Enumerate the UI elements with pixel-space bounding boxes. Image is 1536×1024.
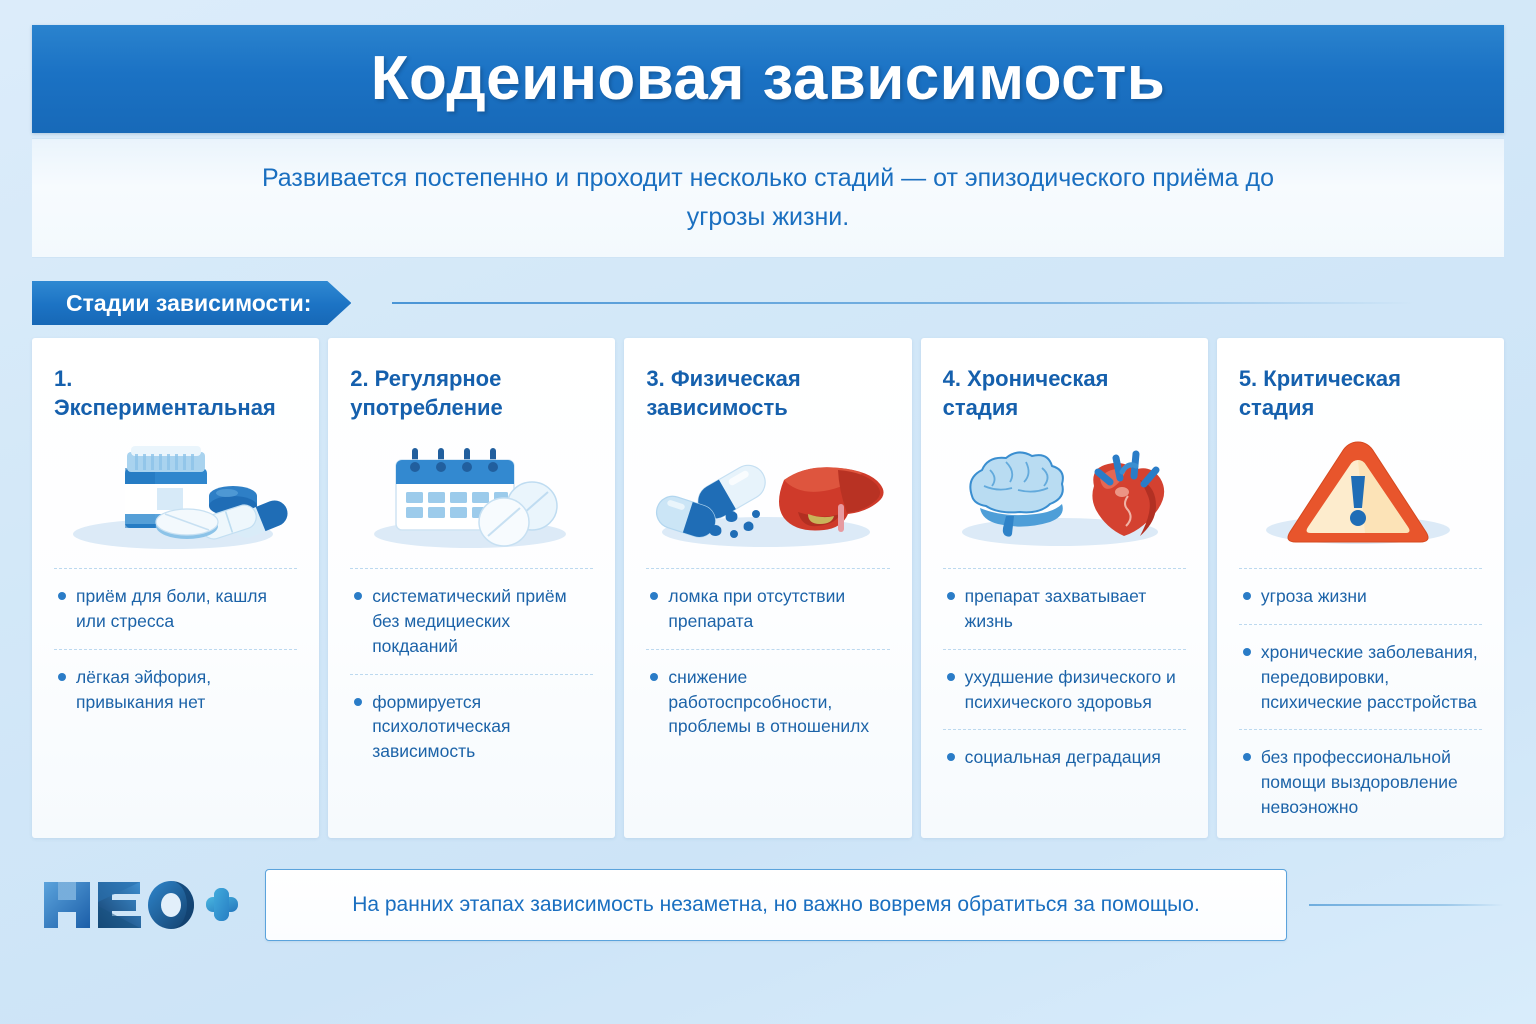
list-item: лёгкая эйфория, привыкания нет <box>54 650 297 730</box>
stages-card-row: 1. Экспериментальная <box>32 338 1504 838</box>
bullet-dot-icon <box>1243 592 1251 600</box>
infographic-poster: Кодеиновая зависимость Развивается посте… <box>0 0 1536 1024</box>
bullet-dot-icon <box>650 673 658 681</box>
neo-plus-logo <box>32 874 247 936</box>
header-band: Кодеиновая зависимость <box>32 25 1504 133</box>
bullet-text: систематический приём без медициеских по… <box>372 584 591 659</box>
list-item: социальная деградация <box>943 730 1186 785</box>
stage-card-2-bullets: систематический приём без медициеских по… <box>350 568 593 779</box>
section-divider-line <box>392 302 1414 304</box>
bullet-dot-icon <box>354 698 362 706</box>
bullet-dot-icon <box>947 592 955 600</box>
stage-card-4-bullets: препарат захватывает жизнь ухудшение физ… <box>943 568 1186 785</box>
bullet-dot-icon <box>354 592 362 600</box>
stage-card-3[interactable]: 3. Физическая зависимость <box>624 338 911 838</box>
footer-divider-line <box>1309 904 1504 906</box>
bullet-text: ухудшение физического и психического здо… <box>965 665 1184 715</box>
bullet-dot-icon <box>650 592 658 600</box>
capsule-liver-icon <box>646 434 889 552</box>
bullet-text: ломка при отсутствии препарата <box>668 584 887 634</box>
stage-card-4-title: 4. Хроническая стадия <box>943 364 1186 428</box>
brain-heart-icon <box>943 434 1186 552</box>
list-item: приём для боли, кашля или стресса <box>54 569 297 649</box>
list-item: формируется психолотическая зависимость <box>350 675 593 780</box>
stage-card-2[interactable]: 2. Регулярное употребление <box>328 338 615 838</box>
bullet-dot-icon <box>1243 753 1251 761</box>
list-item: без профессиональной помощи выздоровлени… <box>1239 730 1482 835</box>
stage-card-5-title: 5. Критическая стадия <box>1239 364 1482 428</box>
bullet-dot-icon <box>58 673 66 681</box>
bullet-text: формируется психолотическая зависимость <box>372 690 591 765</box>
stage-card-1-bullets: приём для боли, кашля или стресса лёгкая… <box>54 568 297 729</box>
list-item: ухудшение физического и психического здо… <box>943 650 1186 730</box>
stage-card-2-title: 2. Регулярное употребление <box>350 364 593 428</box>
warning-triangle-icon <box>1239 434 1482 552</box>
subtitle-band: Развивается постепенно и проходит нескол… <box>32 138 1504 258</box>
list-item: систематический приём без медициеских по… <box>350 569 593 674</box>
stage-card-4[interactable]: 4. Хроническая стадия <box>921 338 1208 838</box>
stage-card-5-bullets: угроза жизни хронические заболевания, пе… <box>1239 568 1482 835</box>
list-item: снижение работоспрсобности, проблемы в о… <box>646 650 889 755</box>
bullet-text: хронические заболевания, передовировки, … <box>1261 640 1480 715</box>
calendar-pills-icon <box>350 434 593 552</box>
section-badge-label: Стадии зависимости: <box>66 290 311 317</box>
footer-note-text: На ранних этапах зависимость незаметна, … <box>352 891 1200 919</box>
stage-card-3-bullets: ломка при отсутствии препарата снижение … <box>646 568 889 754</box>
bullet-text: препарат захватывает жизнь <box>965 584 1184 634</box>
list-item: хронические заболевания, передовировки, … <box>1239 625 1482 730</box>
list-item: угроза жизни <box>1239 569 1482 624</box>
stage-card-3-title: 3. Физическая зависимость <box>646 364 889 428</box>
footer: На ранних этапах зависимость незаметна, … <box>32 855 1504 955</box>
bullet-text: социальная деградация <box>965 745 1184 770</box>
stage-card-1[interactable]: 1. Экспериментальная <box>32 338 319 838</box>
bullet-dot-icon <box>947 673 955 681</box>
list-item: ломка при отсутствии препарата <box>646 569 889 649</box>
bullet-dot-icon <box>947 753 955 761</box>
bullet-text: без профессиональной помощи выздоровлени… <box>1261 745 1480 820</box>
bullet-dot-icon <box>58 592 66 600</box>
list-item: препарат захватывает жизнь <box>943 569 1186 649</box>
subtitle-text: Развивается постепенно и проходит нескол… <box>253 159 1283 237</box>
page-title: Кодеиновая зависимость <box>371 48 1166 110</box>
section-header-row: Стадии зависимости: <box>32 281 1504 325</box>
pill-bottle-icon <box>54 434 297 552</box>
footer-note-box: На ранних этапах зависимость незаметна, … <box>265 869 1287 941</box>
stage-card-5[interactable]: 5. Критическая стадия угроза жизни <box>1217 338 1504 838</box>
bullet-text: приём для боли, кашля или стресса <box>76 584 295 634</box>
bullet-text: снижение работоспрсобности, проблемы в о… <box>668 665 887 740</box>
stage-card-1-title: 1. Экспериментальная <box>54 364 297 428</box>
section-badge: Стадии зависимости: <box>32 281 351 325</box>
bullet-text: угроза жизни <box>1261 584 1480 609</box>
bullet-text: лёгкая эйфория, привыкания нет <box>76 665 295 715</box>
bullet-dot-icon <box>1243 648 1251 656</box>
